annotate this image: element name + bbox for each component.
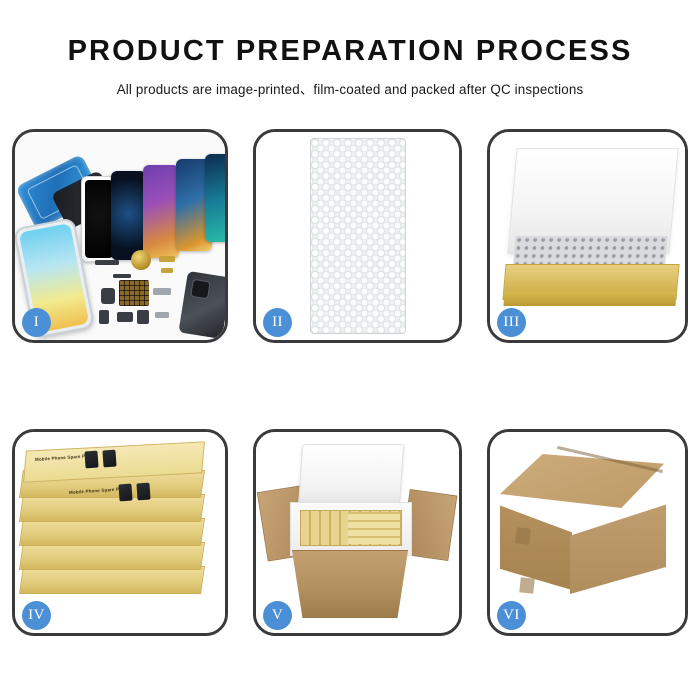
connector-part-icon: [95, 260, 119, 265]
panel-stacked-boxes[interactable]: Mobile Phone Spare Parts Mobile Phone Sp…: [12, 429, 228, 636]
button-part-icon: [117, 312, 133, 322]
stacked-box-item: [19, 566, 205, 594]
phone-teal-icon: [205, 154, 228, 242]
box-label-chip-icon: [136, 483, 150, 501]
speaker-part-icon: [131, 250, 151, 270]
foam-lid-icon: [298, 444, 404, 508]
carton-tape-icon: [515, 527, 531, 544]
carton-tape-icon: [519, 577, 534, 593]
page-title: PRODUCT PREPARATION PROCESS: [0, 36, 700, 66]
antenna-part-icon: [113, 274, 131, 278]
box-label-chip-icon: [84, 451, 98, 469]
panel-inner-box[interactable]: III: [487, 129, 688, 343]
panel-badge: III: [497, 308, 526, 337]
camera-part-icon: [101, 288, 115, 304]
vibrator-part-icon: [137, 310, 149, 324]
flex-cable-icon: [159, 256, 175, 262]
yellow-box-front-icon: [503, 292, 676, 306]
box-label-chip-icon: [118, 484, 132, 502]
carton-top-icon: [500, 454, 664, 508]
panel-products[interactable]: I: [12, 129, 228, 343]
box-label-chip-icon: [102, 450, 116, 468]
panel-badge: I: [22, 308, 51, 337]
screw-set-icon: [155, 312, 169, 318]
packed-boxes-icon: [348, 512, 400, 544]
panel-bubble-wrap[interactable]: II: [253, 129, 462, 343]
sim-tray-icon: [99, 310, 109, 324]
stacked-box-item: [19, 542, 205, 570]
page-subtitle: All products are image-printed、film-coat…: [0, 78, 700, 98]
process-grid: I II III: [12, 129, 688, 636]
panel-carton-packing-image: [256, 432, 459, 633]
panel-bubble-wrap-image: [256, 132, 459, 340]
panel-products-image: [15, 132, 225, 340]
panel-badge: IV: [22, 601, 51, 630]
spare-parts-group: [93, 244, 228, 336]
stacked-box-item: [19, 518, 205, 546]
panel-stacked-boxes-image: Mobile Phone Spare Parts Mobile Phone Sp…: [15, 432, 225, 633]
panel-badge: V: [263, 601, 292, 630]
stacked-box-item: [19, 494, 205, 522]
carton-side-left-icon: [500, 494, 572, 590]
header: PRODUCT PREPARATION PROCESS All products…: [0, 0, 700, 98]
panel-inner-box-image: [490, 132, 685, 340]
panel-badge: VI: [497, 601, 526, 630]
panel-carton-packing[interactable]: V: [253, 429, 462, 636]
back-housing-icon: [178, 271, 228, 339]
panel-sealed-carton[interactable]: VI: [487, 429, 688, 636]
panel-badge: II: [263, 308, 292, 337]
gold-contact-icon: [161, 268, 173, 273]
carton-body-icon: [284, 550, 416, 618]
chip-board-icon: [119, 280, 149, 306]
box-stack-group: Mobile Phone Spare Parts Mobile Phone Sp…: [21, 446, 219, 618]
bracket-part-icon: [153, 288, 171, 295]
bubble-wrap-icon: [310, 138, 406, 334]
